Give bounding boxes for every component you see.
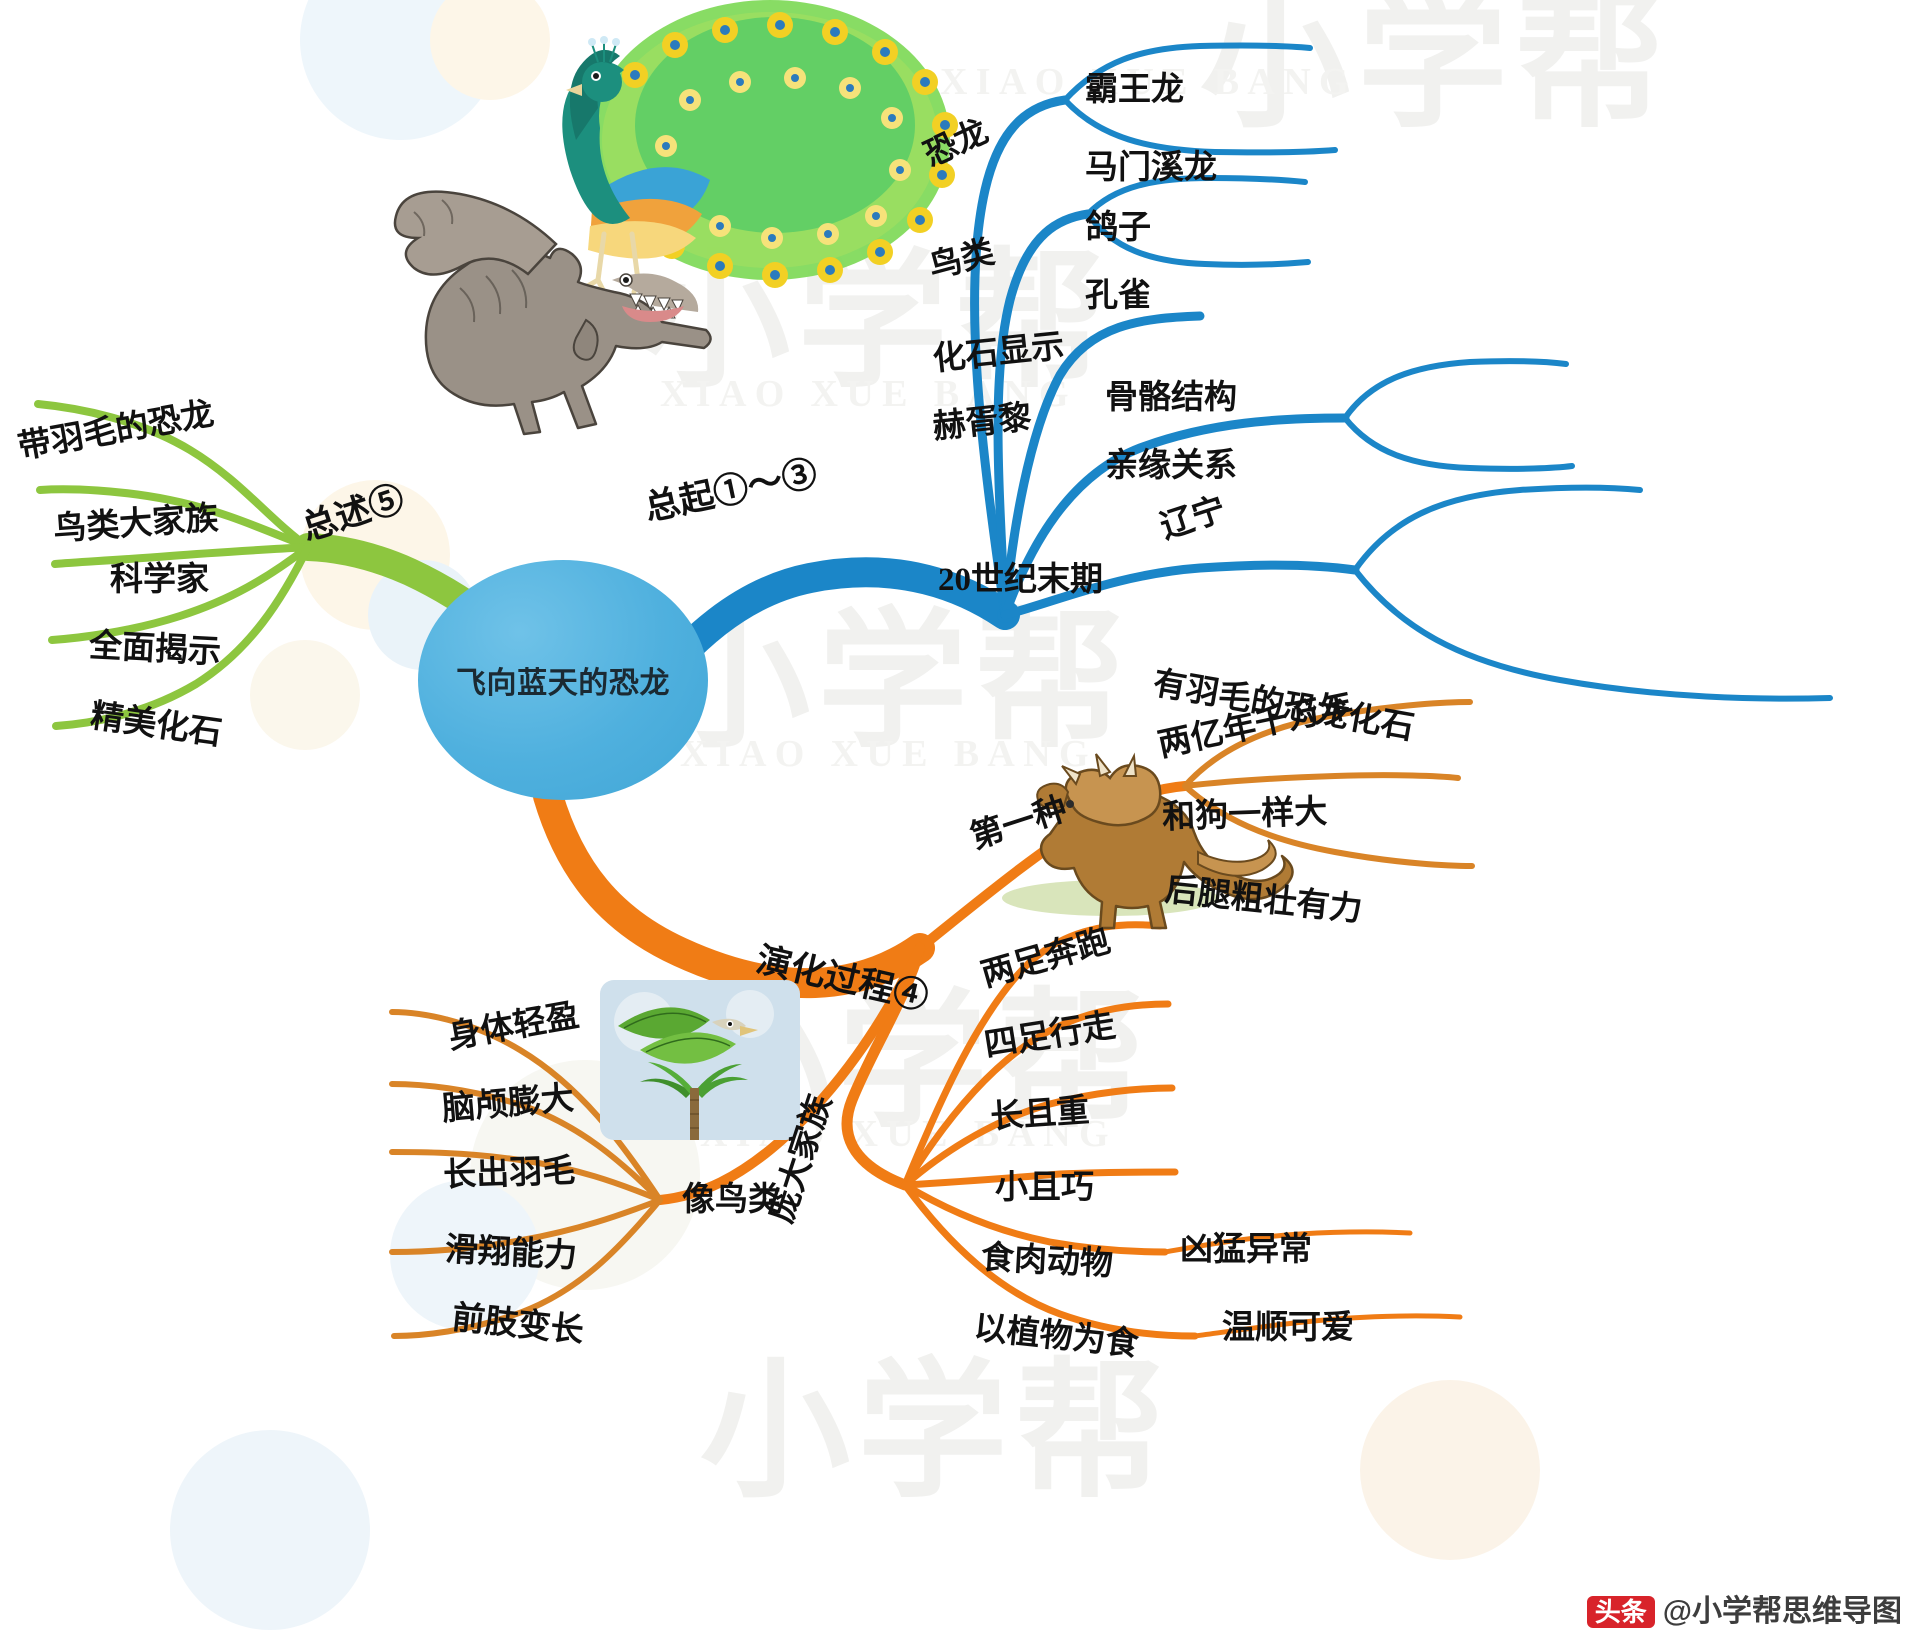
node-label-huaxiangnengli[interactable]: 滑翔能力 (444, 1222, 578, 1277)
node-label-xiongmengyichang[interactable]: 凶猛异常 (1180, 1222, 1312, 1270)
credit-watermark: 头条@小学帮思维导图 (1587, 1586, 1902, 1630)
node-label-gugejiegou[interactable]: 骨骼结构 (1105, 370, 1237, 418)
node-label-hegouyiyangda[interactable]: 和狗一样大 (1161, 784, 1328, 838)
node-label-changqiezhong[interactable]: 长且重 (989, 1083, 1091, 1138)
node-label-changchuyumao[interactable]: 长出羽毛 (442, 1143, 576, 1196)
node-label-hexuli[interactable]: 赫胥黎 (930, 390, 1033, 448)
credit-text: @小学帮思维导图 (1663, 1595, 1902, 1628)
node-label-qinyuanguanxi[interactable]: 亲缘关系 (1105, 438, 1237, 486)
toutiao-badge: 头条 (1587, 1596, 1655, 1628)
gliding-dinosaur-illustration (600, 980, 800, 1140)
node-label-xiaoqieqiao[interactable]: 小且巧 (995, 1160, 1094, 1208)
node-label-kongque[interactable]: 孔雀 (1085, 268, 1151, 316)
node-label-quanmianjieshi[interactable]: 全面揭示 (88, 618, 222, 673)
node-label-bawanglong[interactable]: 霸王龙 (1085, 62, 1184, 110)
node-label-gezi[interactable]: 鸽子 (1085, 200, 1151, 248)
node-label-kexuejia[interactable]: 科学家 (110, 552, 209, 600)
node-label-20shijimoqi[interactable]: 20世纪末期 (938, 552, 1103, 600)
mindmap-canvas: 小学帮 XIAO XUE BANG 小学帮 XIAO XUE BANG 小学帮 … (0, 0, 1920, 1640)
node-label-wenshunkeai[interactable]: 温顺可爱 (1222, 1300, 1354, 1348)
center-node-label: 飞向蓝天的恐龙 (418, 560, 708, 800)
peacock-illustration (562, 0, 958, 292)
node-label-xiangniaolei[interactable]: 像鸟类 (682, 1172, 781, 1220)
node-label-mamenxilong[interactable]: 马门溪龙 (1085, 140, 1217, 188)
node-label-shiroudongwu[interactable]: 食肉动物 (980, 1230, 1114, 1285)
